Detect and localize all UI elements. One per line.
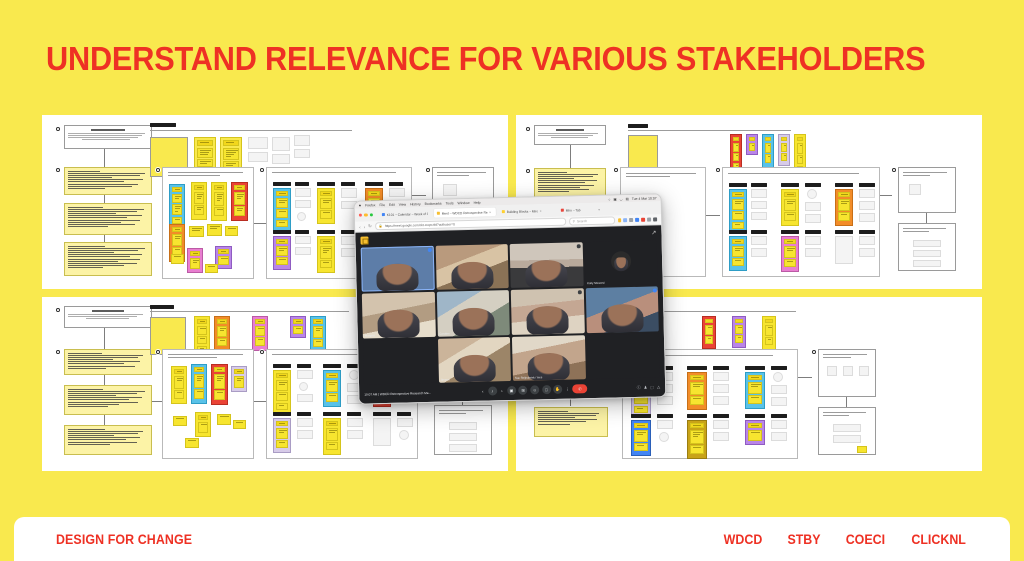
sticky-column-blue[interactable] [323, 370, 341, 407]
menu-firefox[interactable]: Firefox [365, 203, 375, 207]
frame-dot-icon [614, 168, 618, 172]
partner-logo-clicknl: CLICKNL [911, 532, 966, 547]
wifi-icon[interactable]: ◡ [620, 197, 623, 201]
card-insight-yellow[interactable] [64, 425, 152, 455]
mic-muted-icon [577, 244, 581, 248]
meet-side-panel-icons: ⓘ ♟ ⬚ △ [637, 384, 661, 391]
frame-dot-icon [56, 308, 60, 312]
tab-meet[interactable]: Meet – WDCD Retrospective Re × [434, 207, 496, 218]
frame-dot-icon [526, 127, 530, 131]
sticky-column-yellow[interactable] [317, 236, 335, 273]
card-stakeholder-brief[interactable] [534, 125, 606, 145]
sticky-large-blank[interactable] [628, 135, 658, 171]
slide-footer: DESIGN FOR CHANGE WDCD STBY COECI CLICKN… [14, 517, 1010, 561]
present-screen-icon[interactable]: □ [542, 385, 551, 394]
google-meet-logo [360, 236, 368, 244]
menu-tools[interactable]: Tools [446, 201, 454, 205]
footer-project-label: DESIGN FOR CHANGE [56, 532, 192, 547]
frame-dot-icon [812, 350, 816, 354]
sticky-column-blue[interactable] [729, 236, 747, 271]
tab-favicon-icon [382, 213, 385, 216]
sticky-column-blue[interactable] [729, 189, 747, 233]
menu-history[interactable]: History [410, 202, 421, 206]
next-icon[interactable]: › [499, 386, 504, 395]
card-summary[interactable] [818, 349, 876, 397]
participant-video [376, 263, 419, 291]
extension-icon[interactable] [618, 218, 622, 222]
participant-tile[interactable]: Caroline [436, 290, 510, 336]
sticky-column-blue[interactable] [273, 188, 291, 231]
mic-badge-icon [428, 247, 432, 251]
extension-icon[interactable] [641, 218, 645, 222]
frame-cluster[interactable] [162, 349, 254, 459]
sticky-column-red[interactable] [211, 364, 228, 405]
meeting-info-label: 10:07 AM | WDCD Retrospective Research M… [364, 390, 431, 396]
extension-icon[interactable] [636, 218, 640, 222]
camera-icon[interactable]: ▣ [507, 386, 516, 395]
bluetooth-icon[interactable]: ○ [608, 197, 610, 201]
tab-favicon-icon [437, 212, 440, 215]
frame-dot-icon [56, 127, 60, 131]
participant-video [452, 308, 495, 336]
card-insight-yellow[interactable] [64, 349, 152, 375]
mic-badge-icon [652, 288, 656, 292]
sticky-column-purple[interactable] [273, 236, 291, 270]
participant-tile[interactable] [585, 287, 659, 333]
sticky-column-orange[interactable] [687, 372, 707, 410]
tab-miro[interactable]: Miro – Tab [558, 205, 592, 215]
sticky-column-blue[interactable] [169, 184, 185, 228]
mic-muted-icon [578, 290, 582, 294]
participant-tile[interactable] [511, 289, 585, 335]
captions-icon[interactable]: ⊞ [519, 386, 528, 395]
extension-icon[interactable] [624, 218, 628, 222]
tab-calendar[interactable]: K101 – Calendar – Week of 3 m [379, 209, 431, 219]
sticky-column-pink[interactable] [781, 236, 799, 272]
people-icon[interactable]: ♟ [644, 385, 648, 390]
participant-grid: Kaity Steward Margriet Caroline [361, 240, 660, 384]
menu-icon[interactable] [653, 218, 657, 222]
sticky-column-yellow[interactable] [273, 370, 291, 414]
meeting-details-icon[interactable]: ⓘ [637, 384, 641, 390]
activities-icon[interactable]: △ [657, 384, 660, 389]
sticky-column-lilac[interactable] [231, 366, 247, 392]
google-meet-app[interactable]: ↗ Kaity Steward [355, 225, 665, 403]
apple-logo-icon[interactable]: ● [359, 203, 362, 208]
search-bar[interactable]: ⚲ Search [569, 217, 615, 226]
sticky-column-yellow[interactable] [195, 412, 211, 437]
participant-tile[interactable]: Kaity Steward [584, 240, 658, 286]
sticky-column-pink[interactable] [187, 248, 203, 273]
card-insight-yellow[interactable] [64, 167, 152, 195]
avatar [611, 251, 631, 271]
back-icon[interactable]: ‹ [359, 224, 361, 229]
close-tab-icon[interactable]: × [540, 209, 542, 213]
participant-name: Margriet [365, 333, 375, 337]
display-icon[interactable]: ▣ [613, 197, 616, 201]
search-icon: ⚲ [573, 219, 575, 223]
new-tab-button[interactable]: + [595, 205, 603, 214]
hangup-icon[interactable]: ✆ [572, 384, 587, 393]
participant-tile[interactable] [361, 246, 435, 292]
card-insight-yellow[interactable] [64, 385, 152, 415]
sticky-column-yellow[interactable] [191, 182, 207, 220]
frame-dot-icon [56, 350, 60, 354]
grid-spacer [586, 333, 660, 379]
menu-window[interactable]: Window [457, 200, 469, 204]
partner-logo-coeci: COECI [846, 532, 885, 547]
tab-label: K101 – Calendar – Week of 3 m [387, 211, 428, 216]
sticky-column-lilac[interactable] [273, 418, 291, 453]
menu-help[interactable]: Help [474, 200, 481, 204]
sticky-column-red[interactable] [231, 182, 248, 221]
frame-dot-icon [426, 168, 430, 172]
reload-icon[interactable]: ↻ [368, 223, 372, 229]
sticky-column-pink[interactable] [252, 316, 268, 351]
more-options-icon[interactable]: ⋮ [565, 385, 570, 394]
frame-dot-icon [716, 168, 720, 172]
sticky-column-yellow[interactable] [762, 316, 776, 350]
raise-hand-icon[interactable]: ✋ [553, 385, 562, 394]
profile-icon[interactable] [647, 218, 651, 222]
sticky-column-orange[interactable] [835, 189, 853, 226]
card-summary[interactable] [818, 407, 876, 455]
tab-favicon-icon [502, 210, 505, 213]
extension-icons[interactable] [618, 218, 658, 223]
participant-tile[interactable]: Margriet [362, 292, 436, 338]
participant-tile[interactable]: Sue Reijnderink / Ines [512, 335, 586, 381]
partner-logo-wdcd: WDCD [724, 532, 763, 547]
grid-spacer [363, 338, 437, 384]
tab-miro-building-blocks[interactable]: Building Blocks – Miro × [499, 206, 555, 216]
sticky-column-yellow[interactable] [323, 418, 341, 455]
frame-dot-icon [526, 169, 530, 173]
card-insight-yellow[interactable] [64, 242, 152, 276]
frame-dot-icon [260, 168, 264, 172]
menubar-spacer [485, 199, 605, 202]
close-window-button[interactable] [359, 213, 362, 216]
card-stakeholder-brief[interactable] [64, 306, 152, 328]
participant-tile[interactable]: Jimena [437, 337, 511, 383]
partner-logo-stby: STBY [787, 532, 820, 547]
participant-video [601, 304, 644, 332]
sticky-column-purple[interactable] [732, 316, 746, 348]
sticky-column-purple[interactable] [745, 420, 765, 445]
menu-bookmarks[interactable]: Bookmarks [425, 201, 442, 205]
sticky-column-yellow[interactable] [317, 188, 335, 224]
participant-video [525, 259, 568, 287]
participant-name: Sue Reijnderink / Ines [515, 375, 542, 380]
sticky-column-purple[interactable] [290, 316, 306, 338]
participant-tile[interactable] [435, 244, 509, 290]
extension-icon[interactable] [630, 218, 634, 222]
tab-favicon-icon [561, 209, 564, 212]
sticky-column-yellow[interactable] [171, 366, 187, 404]
sticky-column-yellow[interactable] [211, 182, 227, 221]
avatar-photo [614, 258, 628, 272]
frame-cluster[interactable] [162, 167, 254, 279]
google-meet-browser-window[interactable]: ● Firefox File Edit View History Bookmar… [354, 193, 667, 404]
lock-icon: 🔒 [379, 224, 383, 228]
expand-icon[interactable]: ↗ [651, 229, 656, 236]
maximize-window-button[interactable] [370, 213, 373, 216]
sticky-column-lilac[interactable] [778, 134, 790, 166]
close-tab-icon[interactable]: × [489, 210, 491, 214]
participant-tile[interactable] [510, 242, 584, 288]
sticky-column-blue[interactable] [631, 420, 651, 456]
battery-icon[interactable]: ▤ [626, 197, 629, 201]
sticky-column-blue[interactable] [310, 316, 326, 352]
card-summary[interactable] [434, 405, 492, 455]
frame-dot-icon [260, 350, 264, 354]
sticky-column-purple[interactable] [746, 134, 758, 155]
address-bar-url: https://meet.google.com/ckt-xxqm-tfd?aut… [385, 222, 455, 228]
participant-video [451, 261, 494, 289]
tab-label: Meet – WDCD Retrospective Re [442, 210, 488, 215]
participant-video [453, 354, 496, 382]
participant-video [526, 306, 569, 334]
participant-video [377, 309, 420, 337]
card-stakeholder-brief[interactable] [64, 125, 152, 149]
frame-dot-icon [156, 168, 160, 172]
sticky-column-yellow[interactable] [781, 189, 799, 226]
sticky-column-blue[interactable] [762, 134, 774, 168]
menubar-clock[interactable]: Tue 4 Mar 10:07 [632, 196, 657, 201]
card-summary[interactable] [898, 167, 956, 213]
new-tab-label: + [598, 207, 600, 211]
card-summary[interactable] [898, 223, 956, 271]
sticky-column-red[interactable] [702, 316, 716, 349]
sticky-column-blue[interactable] [745, 372, 765, 409]
card-insight-yellow[interactable] [64, 203, 152, 235]
frame-dot-icon [156, 350, 160, 354]
meet-controls: ‹ ♪ › ▣ ⊞ ☺ □ ✋ ⋮ ✆ [434, 383, 634, 397]
emoji-icon[interactable]: ☺ [530, 385, 539, 394]
sticky-column-dark-yellow[interactable] [687, 420, 707, 459]
tab-label: Miro – Tab [566, 208, 581, 212]
forward-icon[interactable]: › [364, 224, 366, 229]
menu-file[interactable]: File [379, 203, 385, 207]
sticky-column-orange[interactable] [214, 316, 230, 351]
footer-partner-logos: WDCD STBY COECI CLICKNL [722, 532, 968, 547]
minimize-window-button[interactable] [364, 213, 367, 216]
participant-name: Caroline [439, 331, 450, 335]
participant-name: Kaity Steward [587, 281, 604, 285]
participant-name: Jimena [440, 377, 449, 381]
chat-icon[interactable]: ⬚ [650, 385, 654, 390]
menubar-status-icons[interactable]: ○ ▣ ◡ ▤ Tue 4 Mar 10:07 [608, 196, 656, 201]
window-traffic-lights[interactable] [359, 213, 373, 217]
microphone-icon[interactable]: ♪ [488, 386, 497, 395]
menu-edit[interactable]: Edit [389, 202, 395, 206]
menu-view[interactable]: View [399, 202, 406, 206]
tab-label: Building Blocks – Miro [507, 209, 538, 214]
search-placeholder: Search [577, 219, 587, 223]
frame-journey-grid[interactable] [722, 167, 880, 277]
frame-dot-icon [56, 168, 60, 172]
prev-icon[interactable]: ‹ [480, 387, 485, 396]
frame-dot-icon [892, 168, 896, 172]
sticky-column-blue[interactable] [191, 364, 207, 404]
card-insight-yellow[interactable] [534, 407, 608, 437]
